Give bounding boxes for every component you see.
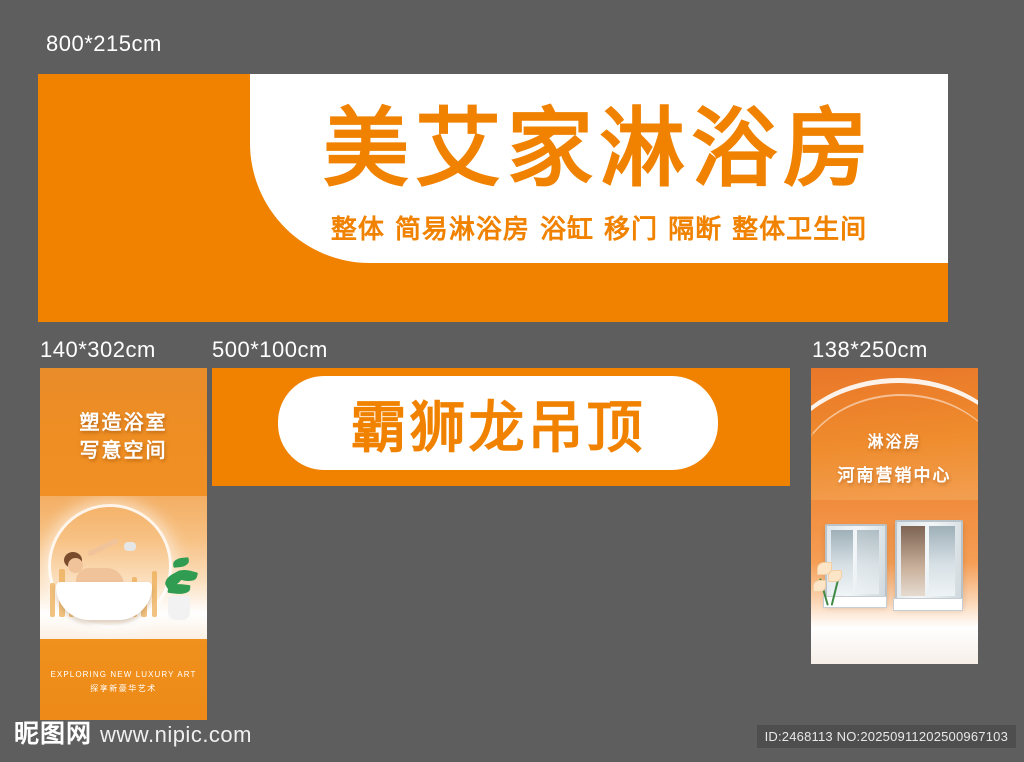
mid-banner: 霸狮龙吊顶 xyxy=(212,368,790,486)
left-poster-footer: EXPLORING NEW LUXURY ART 探享新豪华艺术 xyxy=(40,670,207,694)
cabin-panel xyxy=(901,526,925,596)
cabin-panel xyxy=(857,530,879,594)
left-poster: 塑造浴室 写意空间 EXPLORING NEW LUXURY ART xyxy=(40,368,207,720)
cabin-panel xyxy=(929,526,955,596)
main-banner-subtitle: 整体 简易淋浴房 浴缸 移门 隔断 整体卫生间 xyxy=(250,202,948,252)
flower-bloom xyxy=(813,580,826,592)
right-poster-heading-line1: 淋浴房 xyxy=(811,428,978,452)
main-banner-title: 美艾家淋浴房 xyxy=(250,76,948,204)
dimension-label-right-poster: 138*250cm xyxy=(812,337,928,363)
shower-head-icon xyxy=(124,542,136,551)
plant-leaf xyxy=(173,557,190,568)
candle-decor xyxy=(50,583,55,617)
right-poster-heading-line2: 河南营销中心 xyxy=(811,461,978,486)
left-poster-bathroom-image xyxy=(40,496,207,639)
cabin-base-right xyxy=(893,598,963,611)
plant-leaf xyxy=(168,583,191,595)
right-poster-product-image xyxy=(811,500,978,664)
dimension-label-main-banner: 800*215cm xyxy=(46,31,162,57)
dimension-label-mid-banner: 500*100cm xyxy=(212,337,328,363)
candle-decor xyxy=(152,571,157,617)
left-poster-footer-en: EXPLORING NEW LUXURY ART xyxy=(40,670,207,679)
mid-banner-title: 霸狮龙吊顶 xyxy=(278,376,718,470)
flower-bloom xyxy=(828,570,842,582)
plant-pot xyxy=(168,596,190,620)
left-poster-heading-line2: 写意空间 xyxy=(80,438,168,462)
asset-id-badge: ID:2468113 NO:20250911202500967103 xyxy=(757,725,1016,748)
canvas-stage: 800*215cm 140*302cm 500*100cm 138*250cm … xyxy=(0,0,1024,762)
left-poster-heading-line1: 塑造浴室 xyxy=(80,410,168,434)
shower-cabin-right xyxy=(895,520,963,606)
main-banner: 美艾家淋浴房 整体 简易淋浴房 浴缸 移门 隔断 整体卫生间 xyxy=(38,74,948,322)
cabin-panel xyxy=(831,530,853,594)
left-poster-heading: 塑造浴室 写意空间 xyxy=(40,408,207,464)
right-poster: 淋浴房 河南营销中心 xyxy=(811,368,978,664)
site-watermark: 昵图网 www.nipic.com xyxy=(14,714,252,750)
left-poster-footer-cn: 探享新豪华艺术 xyxy=(40,683,207,694)
watermark-url: www.nipic.com xyxy=(100,722,252,748)
watermark-brand-cn: 昵图网 xyxy=(14,714,92,750)
dimension-label-left-poster: 140*302cm xyxy=(40,337,156,363)
right-poster-heading: 淋浴房 河南营销中心 xyxy=(811,428,978,486)
